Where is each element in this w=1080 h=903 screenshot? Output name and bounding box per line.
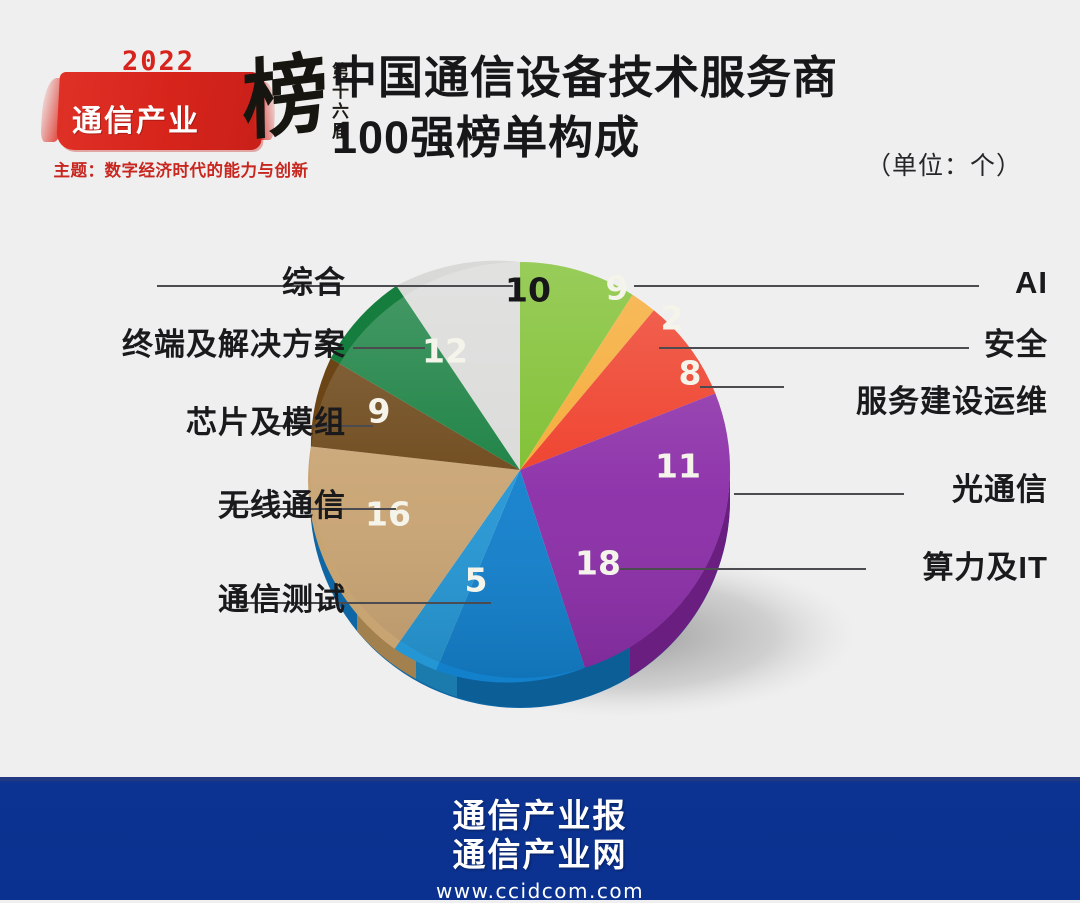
event-logo: 2022 通信产业 榜 第十六届 主题：数字经济时代的能力与创新: [36, 40, 326, 190]
label-zonghe[interactable]: 综合: [282, 267, 346, 298]
footer-publication-name: 通信产业报: [0, 797, 1080, 836]
footer-content: 通信产业报 通信产业网 www.ccidcom.com: [0, 797, 1080, 903]
logo-subtitle: 主题：数字经济时代的能力与创新: [36, 157, 326, 181]
label-anquan[interactable]: 安全: [984, 329, 1048, 360]
label-guangtongxin[interactable]: 光通信: [952, 474, 1048, 505]
leader-line-suanli: [620, 568, 866, 570]
logo-bang-character: 榜: [242, 53, 329, 143]
label-suanli[interactable]: 算力及IT: [922, 552, 1048, 583]
footer-top-rule: [0, 777, 1080, 781]
value-anquan: 2: [661, 299, 684, 338]
leader-line-zhongduan: [353, 347, 425, 349]
value-ceshi: 5: [465, 561, 488, 600]
value-wuxian: 16: [365, 495, 411, 534]
value-suanli: 18: [575, 544, 621, 583]
label-wuxian[interactable]: 无线通信: [218, 490, 346, 521]
leader-line-anquan: [659, 347, 969, 349]
leader-line-ai: [634, 285, 979, 287]
logo-year: 2022: [122, 46, 195, 77]
value-fuwu: 8: [679, 354, 702, 393]
label-zhongduan[interactable]: 终端及解决方案: [122, 329, 346, 360]
logo-brand: 通信产业: [72, 96, 262, 140]
footer-banner: 通信产业报 通信产业网 www.ccidcom.com: [0, 777, 1080, 900]
title-line-1: 中国通信设备技术服务商: [332, 48, 972, 108]
value-zhongduan: 12: [422, 332, 468, 371]
label-ai[interactable]: AI: [1015, 267, 1048, 298]
label-ceshi[interactable]: 通信测试: [218, 584, 346, 615]
poster-canvas: 2022 通信产业 榜 第十六届 主题：数字经济时代的能力与创新 中国通信设备技…: [0, 0, 1080, 900]
value-zonghe: 10: [505, 271, 551, 310]
unit-note: （单位：个）: [866, 146, 1022, 182]
header: 2022 通信产业 榜 第十六届 主题：数字经济时代的能力与创新 中国通信设备技…: [0, 0, 1080, 215]
value-ai: 9: [606, 269, 629, 308]
footer-url[interactable]: www.ccidcom.com: [0, 879, 1080, 903]
value-guangtongxin: 11: [655, 447, 701, 486]
label-xinpian[interactable]: 芯片及模组: [186, 407, 346, 438]
leader-line-guangtongxin: [734, 493, 904, 495]
footer-website-name: 通信产业网: [0, 836, 1080, 875]
pie-chart: 9 2 8 11 18 5 16 9 12 10: [0, 210, 1080, 770]
leader-line-fuwu: [700, 386, 784, 388]
label-fuwu[interactable]: 服务建设运维: [856, 386, 1048, 417]
pie-chart-svg: 9 2 8 11 18 5 16 9 12 10: [0, 210, 1080, 770]
